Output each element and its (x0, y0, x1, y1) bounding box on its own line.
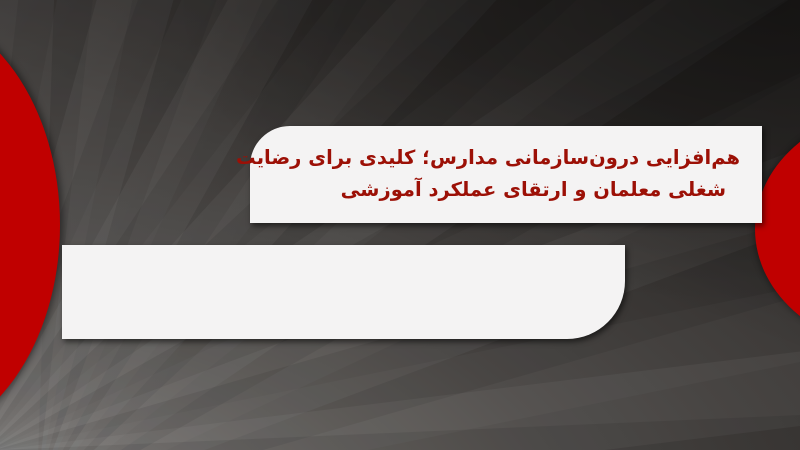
background-vignette (0, 0, 800, 450)
title-panel: هم‌افزایی درون‌سازمانی مدارس؛ کلیدی برای… (250, 126, 762, 223)
slide-title-line-2: شغلی معلمان و ارتقای عملکرد آموزشی (270, 174, 740, 206)
presentation-slide: هم‌افزایی درون‌سازمانی مدارس؛ کلیدی برای… (0, 0, 800, 450)
slide-title-line-1: هم‌افزایی درون‌سازمانی مدارس؛ کلیدی برای… (270, 142, 740, 174)
content-panel (62, 245, 625, 339)
